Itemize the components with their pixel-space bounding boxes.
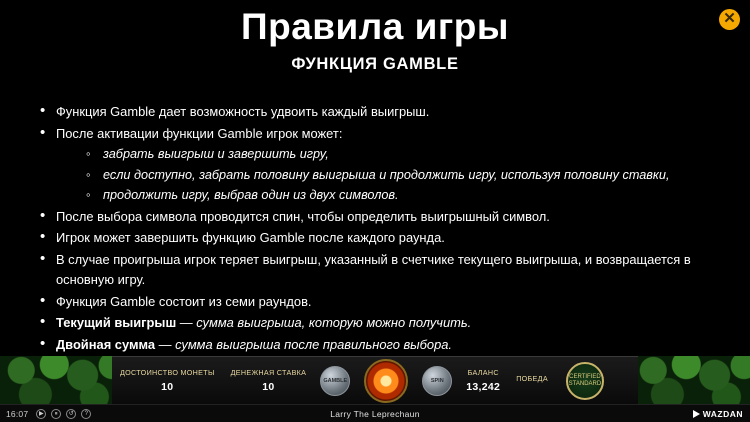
stat-coin-value-label: ДОСТОИНСТВО МОНЕТЫ [120, 368, 215, 377]
rules-list-item: После выбора символа проводится спин, чт… [36, 207, 726, 228]
stat-balance-amount: 13,242 [466, 381, 500, 393]
rules-item-text: Игрок может завершить функцию Gamble пос… [56, 230, 445, 245]
rules-item-text: — сумма выигрыша после правильного выбор… [155, 337, 452, 352]
rules-list: Функция Gamble дает возможность удвоить … [36, 102, 726, 355]
status-bar: 16:07 ▶ ⏸ ↺ ? Larry The Leprechaun WAZDA… [0, 404, 750, 422]
stat-money-bet: ДЕНЕЖНАЯ СТАВКА 10 [223, 368, 315, 393]
gamble-coin-icon[interactable]: GAMBLE [320, 366, 350, 396]
rules-sublist: забрать выигрыш и завершить игру,если до… [56, 144, 726, 206]
stat-money-bet-amount: 10 [231, 381, 307, 393]
page-subtitle: ФУНКЦИЯ GAMBLE [0, 55, 750, 74]
rules-item-term: Текущий выигрыш [56, 315, 176, 330]
spin-coin-icon[interactable]: SPIN [422, 366, 452, 396]
rules-sublist-item: продолжить игру, выбрав один из двух сим… [86, 185, 726, 206]
rules-item-text: Функция Gamble дает возможность удвоить … [56, 104, 429, 119]
rules-content: Функция Gamble дает возможность удвоить … [0, 102, 750, 355]
game-title: Larry The Leprechaun [0, 409, 750, 419]
rules-item-text: После выбора символа проводится спин, чт… [56, 209, 550, 224]
stat-win-label: ПОБЕДА [516, 374, 548, 383]
foliage-decoration-right [632, 356, 750, 404]
foliage-decoration-left [0, 356, 118, 404]
game-control-panel: ДОСТОИНСТВО МОНЕТЫ 10 ДЕНЕЖНАЯ СТАВКА 10… [112, 356, 638, 404]
rules-list-item: Текущий выигрыш — сумма выигрыша, котору… [36, 313, 726, 334]
game-reel-area: ДОСТОИНСТВО МОНЕТЫ 10 ДЕНЕЖНАЯ СТАВКА 10… [0, 356, 750, 404]
rules-item-text: — сумма выигрыша, которую можно получить… [176, 315, 471, 330]
stat-balance-label: БАЛАНС [468, 368, 499, 377]
rules-item-text: Функция Gamble состоит из семи раундов. [56, 294, 312, 309]
rules-list-item: Функция Gamble состоит из семи раундов. [36, 292, 726, 313]
rules-list-item: Функция Gamble дает возможность удвоить … [36, 102, 726, 123]
rules-item-term: Двойная сумма [56, 337, 155, 352]
rules-sublist-item: если доступно, забрать половину выигрыша… [86, 165, 726, 186]
stat-money-bet-label: ДЕНЕЖНАЯ СТАВКА [231, 368, 307, 377]
stat-coin-value-amount: 10 [120, 381, 215, 393]
close-icon[interactable]: ✕ [719, 9, 740, 30]
stat-coin-value: ДОСТОИНСТВО МОНЕТЫ 10 [112, 368, 223, 393]
spin-button[interactable] [364, 359, 408, 403]
stat-balance: БАЛАНС 13,242 [458, 368, 508, 393]
certification-emblem-icon: CERTIFIED STANDARD [566, 362, 604, 400]
rules-list-item: Двойная сумма — сумма выигрыша после пра… [36, 335, 726, 356]
rules-sublist-item: забрать выигрыш и завершить игру, [86, 144, 726, 165]
rules-list-item: После активации функции Gamble игрок мож… [36, 124, 726, 206]
rules-item-text: В случае проигрыша игрок теряет выигрыш,… [56, 252, 691, 288]
stat-win: ПОБЕДА [508, 374, 556, 387]
rules-list-item: В случае проигрыша игрок теряет выигрыш,… [36, 250, 726, 291]
page-title: Правила игры [0, 5, 750, 49]
game-rules-overlay: ✕ Правила игры ФУНКЦИЯ GAMBLE Функция Ga… [0, 0, 750, 356]
rules-list-item: Игрок может завершить функцию Gamble пос… [36, 228, 726, 249]
rules-item-text: После активации функции Gamble игрок мож… [56, 126, 342, 141]
